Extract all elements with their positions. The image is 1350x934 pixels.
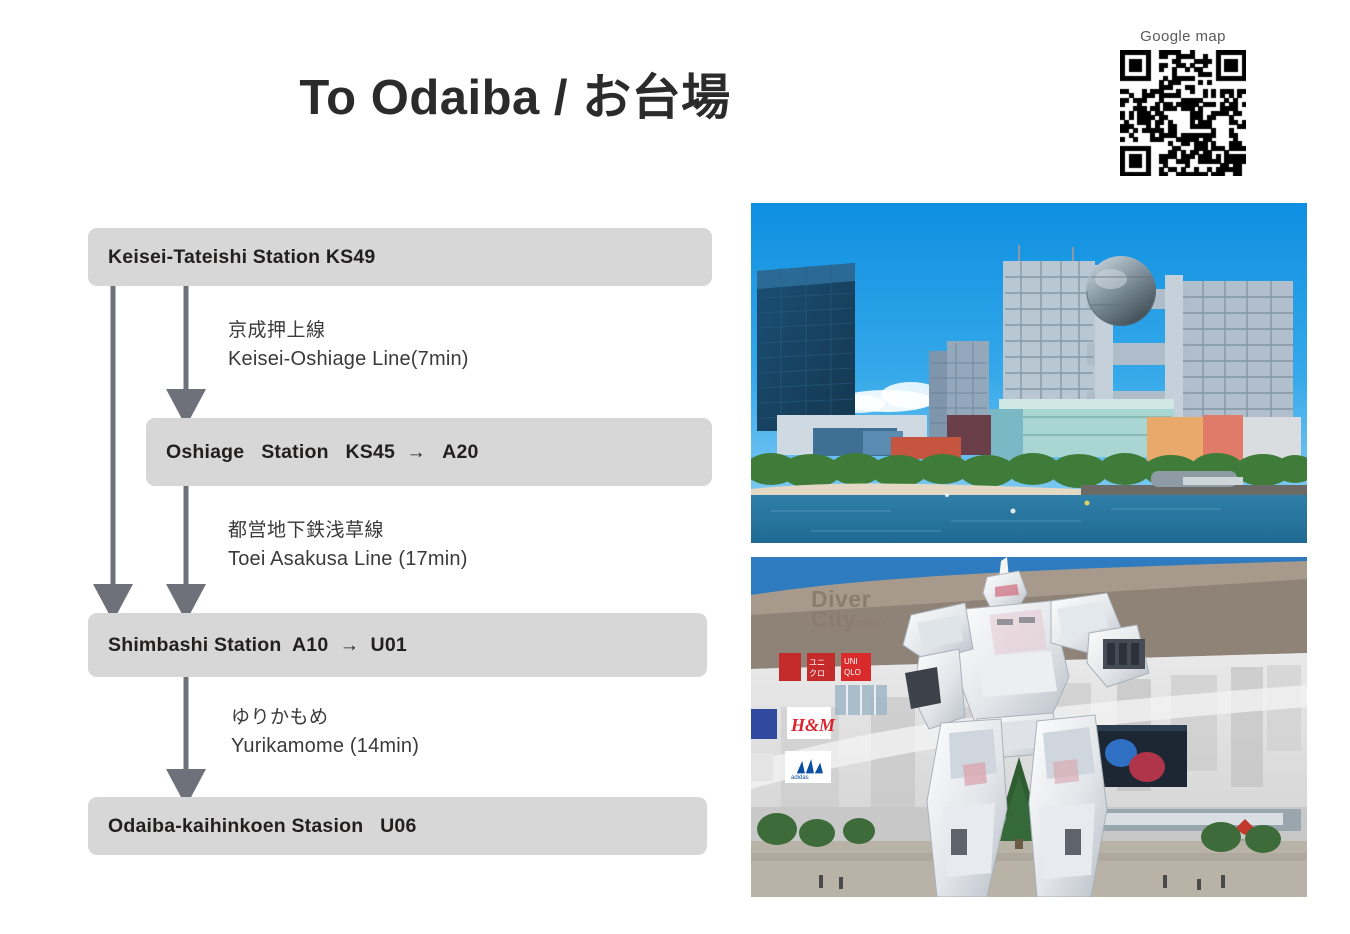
leg-label-keisei-oshiage: 京成押上線 Keisei-Oshiage Line(7min) <box>228 318 469 373</box>
qr-code-icon[interactable] <box>1120 50 1246 176</box>
svg-text:H&M: H&M <box>790 715 836 735</box>
station-box-shimbashi[interactable]: Shimbashi Station A10 → U01 <box>88 613 707 677</box>
leg-label-jp: 都営地下鉄浅草線 <box>228 518 468 545</box>
svg-text:QLO: QLO <box>844 668 861 677</box>
leg-label-en: Toei Asakusa Line (17min) <box>228 545 468 573</box>
leg-label-yurikamome: ゆりかもめ Yurikamome (14min) <box>231 705 419 760</box>
divercity-gundam-photo: Diver City токуо ユニ クロ UNI QLO H&M adida… <box>751 557 1307 897</box>
station-box-oshiage[interactable]: Oshiage Station KS45 → A20 <box>146 418 712 486</box>
odaiba-waterfront-photo <box>751 203 1307 543</box>
leg-label-toei-asakusa: 都営地下鉄浅草線 Toei Asakusa Line (17min) <box>228 518 468 573</box>
slide-page: To Odaiba / お台場 Google map Keisei-Tateis… <box>0 0 1350 934</box>
station-box-odaiba-kaihinkoen[interactable]: Odaiba-kaihinkoen Stasion U06 <box>88 797 707 855</box>
svg-text:ユニ: ユニ <box>809 658 825 667</box>
svg-text:adidas: adidas <box>791 775 809 781</box>
svg-text:токуо: токуо <box>855 616 885 630</box>
leg-label-jp: ゆりかもめ <box>231 705 419 732</box>
svg-text:クロ: クロ <box>809 669 825 678</box>
station-box-keisei-tateishi[interactable]: Keisei-Tateishi Station KS49 <box>88 228 712 286</box>
leg-label-en: Yurikamome (14min) <box>231 732 419 760</box>
google-map-qr-block[interactable]: Google map <box>1113 28 1253 176</box>
svg-text:City: City <box>811 606 856 632</box>
leg-label-en: Keisei-Oshiage Line(7min) <box>228 345 469 373</box>
qr-caption: Google map <box>1113 28 1253 45</box>
svg-text:UNI: UNI <box>844 657 858 666</box>
leg-label-jp: 京成押上線 <box>228 318 469 345</box>
route-flow-chart: Keisei-Tateishi Station KS49 Oshiage Sta… <box>0 0 740 934</box>
